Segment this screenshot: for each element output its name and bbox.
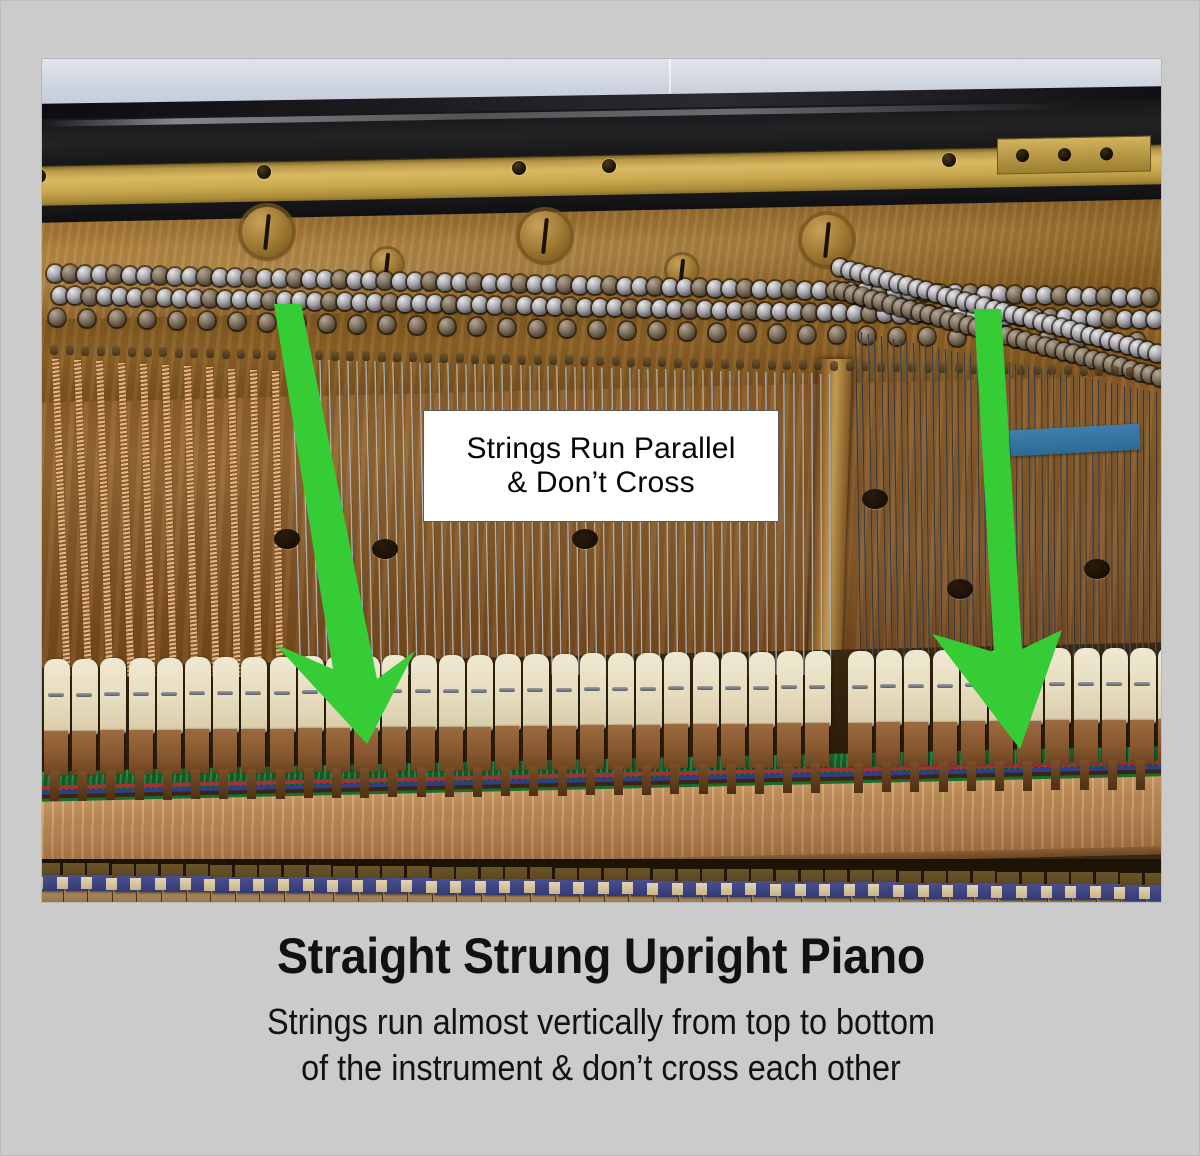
hammer-leg-left-481 <box>529 766 538 796</box>
tuning-pin-row1-38 <box>617 278 633 295</box>
tuning-pin-row1-6 <box>137 267 153 284</box>
tuning-pin-row2-4 <box>112 288 128 305</box>
hammer-leg-right-1003 <box>1051 760 1060 790</box>
tuning-pin-row2-0 <box>52 287 68 304</box>
tuning-pin-row2-9 <box>187 290 203 307</box>
damper-felt-right-806 <box>848 651 874 727</box>
tuning-pin-row1-67 <box>1052 287 1068 304</box>
tuning-pin-row2-39 <box>637 300 653 317</box>
tuning-pin-row1-66 <box>1037 287 1053 304</box>
tuning-pin-row2-32 <box>532 298 548 315</box>
tuning-pin-row1-27 <box>452 274 468 291</box>
tuning-pin-row3-40 <box>649 322 665 339</box>
hammer-leg-left-228 <box>276 769 285 799</box>
tuning-pin-row2-30 <box>502 297 518 314</box>
tuning-pin-row1-37 <box>602 277 618 294</box>
tuning-pin-row2-42 <box>682 301 698 318</box>
tuning-pin-row1-21 <box>362 272 378 289</box>
damper-felt-left-2 <box>44 659 70 735</box>
tuning-pin-row1-31 <box>512 275 528 292</box>
tuning-pin-row1-15 <box>272 270 288 287</box>
damper-wire <box>753 686 769 690</box>
annotation-label-box: Strings Run Parallel & Don’t Cross <box>423 410 779 522</box>
string-coil-2 <box>81 346 89 356</box>
hammer-leg-left-735 <box>783 763 792 793</box>
string-coil-7 <box>159 347 167 357</box>
tuning-pin-row2-1 <box>67 287 83 304</box>
tuning-pin-row1-70 <box>1097 288 1113 305</box>
right-section-string-47 <box>1155 392 1157 673</box>
tuning-pin-row2-27 <box>457 296 473 313</box>
treble-string-57 <box>811 373 814 675</box>
damper-wire <box>104 692 120 696</box>
hammer-leg-left-566 <box>614 765 623 795</box>
annotation-line-2: & Don’t Cross <box>507 466 695 500</box>
hammer-leg-right-1060 <box>1108 760 1117 790</box>
action-felt-tip <box>450 881 461 893</box>
bass-tuning-pin-b-33 <box>1152 369 1162 386</box>
string-coil-68 <box>1111 366 1119 376</box>
hammer-leg-left-453 <box>501 766 510 796</box>
tuning-pin-row3-6 <box>139 311 155 328</box>
tuning-pin-row1-46 <box>737 280 753 297</box>
hammer-shank-left-763 <box>805 723 829 767</box>
tuning-pin-row1-35 <box>572 277 588 294</box>
damper-wire <box>781 685 797 689</box>
hammer-leg-left-425 <box>473 767 482 797</box>
hammer-leg-left-143 <box>191 769 200 799</box>
hammer-leg-left-284 <box>332 768 341 798</box>
tuning-pin-row2-3 <box>97 288 113 305</box>
tuning-pin-row1-28 <box>467 274 483 291</box>
damper-wire <box>48 693 64 697</box>
hammer-leg-left-312 <box>360 768 369 798</box>
string-coil-28 <box>487 354 495 364</box>
string-coil-47 <box>783 360 791 370</box>
tuning-pin-row3-50 <box>799 326 815 343</box>
tuning-pin-row2-35 <box>577 299 593 316</box>
tuning-pin-row1-10 <box>197 268 213 285</box>
action-felt-tip <box>376 880 387 892</box>
string-coil-67 <box>1095 366 1103 376</box>
hammer-leg-left-199 <box>247 769 256 799</box>
hammer-leg-left-510 <box>558 766 567 796</box>
tuning-pin-row1-16 <box>287 270 303 287</box>
tuning-pin-row1-33 <box>542 276 558 293</box>
tuning-pin-row2-52 <box>832 304 848 321</box>
hammer-leg-left-30 <box>78 771 87 801</box>
action-felt-tip <box>278 879 289 891</box>
tuning-pin-row1-68 <box>1067 288 1083 305</box>
hammer-leg-left-707 <box>755 764 764 794</box>
tuning-pin-row2-50 <box>802 304 818 321</box>
treble-string-55 <box>793 373 796 675</box>
string-coil-43 <box>721 359 729 369</box>
hammer-leg-left-651 <box>699 764 708 794</box>
string-coil-36 <box>612 356 620 366</box>
brass-block-hole-0 <box>1016 149 1029 162</box>
action-felt-tip <box>499 881 510 893</box>
string-coil-9 <box>190 348 198 358</box>
string-coil-32 <box>549 355 557 365</box>
brass-rail-screw-4 <box>942 153 956 167</box>
tuning-pin-row1-71 <box>1112 289 1128 306</box>
hammer-leg-right-834 <box>882 762 891 792</box>
action-felt-tip <box>868 884 879 896</box>
tuning-pin-row2-70 <box>1102 310 1118 327</box>
tuning-pin-row3-48 <box>769 325 785 342</box>
tuning-pin-row2-31 <box>517 297 533 314</box>
caption-title: Straight Strung Upright Piano <box>43 913 1159 985</box>
action-felt-tip <box>991 886 1002 898</box>
caption-subtitle-line-2: of the instrument & don’t cross each oth… <box>61 1045 1141 1091</box>
damper-wire <box>556 688 572 692</box>
damper-wire <box>640 687 656 691</box>
action-felt-tip <box>622 882 633 894</box>
tuning-pin-row2-46 <box>742 302 758 319</box>
tuning-pin-row2-6 <box>142 289 158 306</box>
damper-wire <box>443 689 459 693</box>
tuning-pin-row2-69 <box>1087 310 1103 327</box>
damper-wire <box>527 688 543 692</box>
plate-bolt-slot <box>541 218 549 254</box>
hammer-leg-left-763 <box>811 763 820 793</box>
hammer-shank-left-30 <box>72 731 96 775</box>
damper-felt-left-679 <box>721 652 747 728</box>
tuning-pin-row2-51 <box>817 304 833 321</box>
action-felt-tip <box>180 878 191 890</box>
tuning-pin-row1-64 <box>1007 286 1023 303</box>
tuning-pin-row3-2 <box>79 310 95 327</box>
tuning-pin-row3-26 <box>439 318 455 335</box>
hammer-leg-left-538 <box>586 765 595 795</box>
action-felt-tip <box>918 885 929 897</box>
tuning-pin-row2-43 <box>697 301 713 318</box>
soundboard-hole-5 <box>862 489 888 509</box>
tuning-pin-row2-26 <box>442 296 458 313</box>
damper-felt-left-622 <box>664 652 690 728</box>
string-coil-10 <box>206 348 214 358</box>
tuning-pin-row2-33 <box>547 298 563 315</box>
action-felt-tip <box>1139 887 1150 899</box>
hammer-leg-left-2 <box>50 771 59 801</box>
tuning-pin-row1-32 <box>527 276 543 293</box>
hammer-shank-left-735 <box>777 723 801 767</box>
tuning-pin-row1-26 <box>437 274 453 291</box>
tuning-pin-row2-10 <box>202 290 218 307</box>
string-coil-35 <box>596 356 604 366</box>
hammer-shank-right-834 <box>876 722 900 766</box>
hammer-leg-left-397 <box>445 767 454 797</box>
tuning-pin-row3-8 <box>169 312 185 329</box>
hammer-shank-left-538 <box>580 725 604 769</box>
damper-felt-left-425 <box>467 655 493 731</box>
hammer-shank-left-115 <box>157 730 181 774</box>
hammer-shank-right-1060 <box>1102 720 1126 764</box>
right-section-string-45 <box>1142 390 1144 674</box>
tuning-pin-row1-11 <box>212 269 228 286</box>
damper-wire <box>880 684 896 688</box>
action-felt-tip <box>57 877 68 889</box>
hammer-leg-right-862 <box>910 762 919 792</box>
string-coil-6 <box>144 347 152 357</box>
action-felt-tip <box>819 884 830 896</box>
action-felt-tip <box>253 879 264 891</box>
tuning-pin-row3-44 <box>709 324 725 341</box>
hammer-shank-left-481 <box>523 726 547 770</box>
hammer-shank-left-58 <box>100 730 124 774</box>
damper-felt-left-707 <box>749 652 775 728</box>
hammer-leg-right-891 <box>939 762 948 792</box>
treble-string-56 <box>802 373 805 675</box>
soundboard-hole-1 <box>572 529 598 549</box>
action-felt-tip <box>844 884 855 896</box>
tuning-pin-row2-49 <box>787 303 803 320</box>
tuning-pin-row3-30 <box>499 319 515 336</box>
damper-felt-left-397 <box>439 655 465 731</box>
tuning-pin-row1-22 <box>377 272 393 289</box>
tuning-pin-row3-38 <box>619 322 635 339</box>
hammer-leg-right-806 <box>854 763 863 793</box>
string-coil-40 <box>674 358 682 368</box>
tuning-pin-row1-69 <box>1082 288 1098 305</box>
left-down-arrow <box>227 299 437 749</box>
tuning-pin-row1-45 <box>722 280 738 297</box>
damper-wire <box>1134 682 1150 686</box>
tuning-pin-row1-51 <box>812 282 828 299</box>
tuning-pin-row1-48 <box>767 281 783 298</box>
hammer-shank-left-2 <box>44 731 68 775</box>
tuning-pin-row1-72 <box>1127 289 1143 306</box>
plate-bolt-0 <box>242 207 292 257</box>
caption-subtitle-line-1: Strings run almost vertically from top t… <box>61 999 1141 1045</box>
damper-felt-left-763 <box>805 651 831 727</box>
tuning-pin-row1-19 <box>332 271 348 288</box>
tuning-pin-row2-41 <box>667 301 683 318</box>
brass-block-hole-2 <box>1100 147 1113 160</box>
hammer-shank-left-453 <box>495 726 519 770</box>
caption-block: Straight Strung Upright Piano Strings ru… <box>1 913 1200 1091</box>
plate-bolt-slot <box>263 214 271 250</box>
damper-felt-left-566 <box>608 653 634 729</box>
action-felt-tip <box>1016 886 1027 898</box>
hammer-shank-left-87 <box>129 730 153 774</box>
tuning-pin-row2-53 <box>847 305 863 322</box>
tuning-pin-row1-29 <box>482 275 498 292</box>
string-coil-26 <box>456 353 464 363</box>
hammer-shank-left-425 <box>467 727 491 771</box>
string-coil-69 <box>1126 367 1134 377</box>
tuning-pin-row1-5 <box>122 267 138 284</box>
action-felt-tip <box>155 878 166 890</box>
damper-felt-left-538 <box>580 653 606 729</box>
action-felt-tip <box>229 879 240 891</box>
hammer-leg-left-171 <box>219 769 228 799</box>
tuning-pin-row2-72 <box>1132 311 1148 328</box>
tuning-pin-row3-28 <box>469 318 485 335</box>
damper-wire <box>161 692 177 696</box>
brass-mounting-block <box>997 136 1151 175</box>
plate-bolt-2 <box>802 215 852 265</box>
tuning-pin-row1-17 <box>302 271 318 288</box>
damper-felt-left-735 <box>777 651 803 727</box>
tuning-pin-row1-12 <box>227 269 243 286</box>
string-coil-31 <box>534 355 542 365</box>
tuning-pin-row1-42 <box>677 279 693 296</box>
hammer-shank-left-707 <box>749 724 773 768</box>
damper-wire <box>584 687 600 691</box>
action-blue-felt-45 <box>1147 885 1162 901</box>
hammer-leg-left-594 <box>642 765 651 795</box>
action-felt-tip <box>795 884 806 896</box>
hammer-shank-left-510 <box>552 726 576 770</box>
tuning-pin-row1-0 <box>47 265 63 282</box>
tuning-pin-row2-36 <box>592 299 608 316</box>
tuning-pin-row3-46 <box>739 324 755 341</box>
hammer-leg-left-679 <box>727 764 736 794</box>
brass-rail-screw-3 <box>602 159 616 173</box>
string-coil-50 <box>830 361 838 371</box>
damper-wire <box>133 692 149 696</box>
plate-bolt-slot <box>679 259 685 281</box>
string-coil-29 <box>502 354 510 364</box>
tuning-pin-row2-38 <box>622 300 638 317</box>
action-felt-tip <box>106 878 117 890</box>
tuning-pin-row1-43 <box>692 279 708 296</box>
tuning-pin-row3-32 <box>529 320 545 337</box>
action-felt-tip <box>1041 886 1052 898</box>
damper-wire <box>189 691 205 695</box>
action-felt-tip <box>130 878 141 890</box>
hammer-leg-left-115 <box>163 770 172 800</box>
tuning-pin-row2-34 <box>562 298 578 315</box>
damper-felt-left-594 <box>636 653 662 729</box>
tuning-pin-row1-34 <box>557 276 573 293</box>
tuning-pin-row1-49 <box>782 281 798 298</box>
action-felt-tip <box>745 883 756 895</box>
tuning-pin-row1-13 <box>242 269 258 286</box>
tuning-pin-row3-34 <box>559 320 575 337</box>
bass-tuning-pin-33 <box>1149 345 1162 362</box>
treble-string-59 <box>829 374 832 675</box>
action-felt-tip <box>967 885 978 897</box>
action-felt-tip <box>647 883 658 895</box>
tuning-pin-row1-47 <box>752 281 768 298</box>
string-coil-39 <box>658 357 666 367</box>
tuning-pin-row1-24 <box>407 273 423 290</box>
tuning-pin-row1-73 <box>1142 289 1158 306</box>
tuning-pin-row1-25 <box>422 273 438 290</box>
hammer-shank-left-594 <box>636 725 660 769</box>
string-coil-25 <box>440 353 448 363</box>
piano-photo: Strings Run Parallel & Don’t Cross <box>41 58 1162 903</box>
figure-root: Strings Run Parallel & Don’t Cross Strai… <box>0 0 1200 1156</box>
damper-wire <box>471 689 487 693</box>
tuning-pin-row2-73 <box>1147 311 1162 328</box>
hammer-leg-right-1088 <box>1136 760 1145 790</box>
string-coil-33 <box>565 355 573 365</box>
tuning-pin-row1-50 <box>797 282 813 299</box>
string-coil-27 <box>471 354 479 364</box>
action-felt-tip <box>524 881 535 893</box>
damper-felt-right-834 <box>876 650 902 726</box>
tuning-pin-row1-7 <box>152 267 168 284</box>
damper-felt-left-58 <box>100 658 126 734</box>
tuning-pin-row1-2 <box>77 266 93 283</box>
hammer-leg-right-1032 <box>1080 760 1089 790</box>
damper-felt-right-1116 <box>1158 647 1162 723</box>
damper-wire <box>725 686 741 690</box>
string-coil-44 <box>736 359 744 369</box>
action-felt-tip <box>770 884 781 896</box>
hammer-shank-right-1088 <box>1130 720 1154 764</box>
tuning-pin-row1-30 <box>497 275 513 292</box>
string-coil-42 <box>705 358 713 368</box>
damper-wire <box>612 687 628 691</box>
string-coil-51 <box>846 361 854 371</box>
string-coil-0 <box>50 345 58 355</box>
tuning-pin-row1-20 <box>347 272 363 289</box>
tuning-pin-row3-36 <box>589 321 605 338</box>
tuning-pin-row2-45 <box>727 302 743 319</box>
tuning-pin-row2-37 <box>607 299 623 316</box>
string-coil-30 <box>518 355 526 365</box>
action-felt-tip <box>672 883 683 895</box>
hammer-shank-left-397 <box>439 727 463 771</box>
tuning-pin-row2-71 <box>1117 311 1133 328</box>
tuning-pin-row1-36 <box>587 277 603 294</box>
hammer-shank-right-1116 <box>1158 719 1162 763</box>
damper-felt-left-115 <box>157 658 183 734</box>
tuning-pin-row1-40 <box>647 278 663 295</box>
tuning-pin-row1-4 <box>107 266 123 283</box>
tuning-pin-row2-29 <box>487 297 503 314</box>
damper-felt-left-453 <box>495 654 521 730</box>
action-felt-tip <box>1090 886 1101 898</box>
damper-felt-left-510 <box>552 654 578 730</box>
right-down-arrow <box>902 304 1082 756</box>
string-coil-41 <box>690 358 698 368</box>
tuning-pin-row1-41 <box>662 279 678 296</box>
hammer-leg-left-340 <box>388 767 397 797</box>
tuning-pin-row3-42 <box>679 323 695 340</box>
tuning-pin-row3-4 <box>109 310 125 327</box>
damper-felt-right-1060 <box>1102 648 1128 724</box>
damper-felt-left-651 <box>693 652 719 728</box>
tuning-pin-row2-8 <box>172 290 188 307</box>
action-felt-tip <box>942 885 953 897</box>
hammer-shank-left-651 <box>693 724 717 768</box>
action-felt-tip <box>303 879 314 891</box>
tuning-pin-row2-28 <box>472 296 488 313</box>
damper-wire <box>668 686 684 690</box>
hammer-leg-right-975 <box>1023 761 1032 791</box>
plate-bolt-1 <box>520 211 570 261</box>
hammer-shank-left-143 <box>185 729 209 773</box>
string-coil-34 <box>580 356 588 366</box>
action-felt-tip <box>696 883 707 895</box>
action-felt-tip <box>893 885 904 897</box>
tuning-pin-row2-40 <box>652 300 668 317</box>
hammer-leg-left-256 <box>304 768 313 798</box>
tuning-pin-row1-9 <box>182 268 198 285</box>
string-coil-5 <box>128 347 136 357</box>
hammer-shank-left-566 <box>608 725 632 769</box>
action-felt-tip <box>573 882 584 894</box>
hammer-leg-left-622 <box>670 764 679 794</box>
tuning-pin-row1-14 <box>257 270 273 287</box>
hammer-shank-right-806 <box>848 723 872 767</box>
